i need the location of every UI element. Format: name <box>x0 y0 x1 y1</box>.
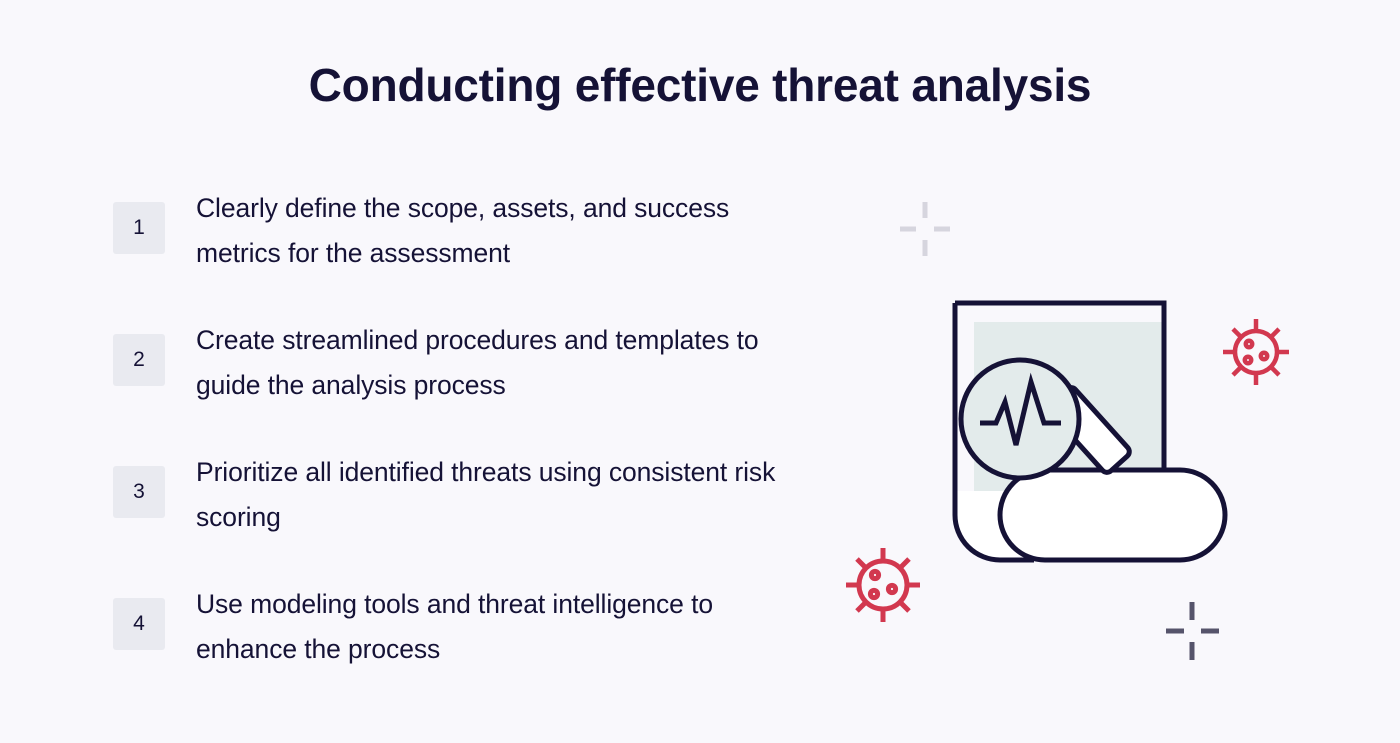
step-text: Create streamlined procedures and templa… <box>196 318 796 408</box>
crosshair-bottom-right <box>1166 602 1219 660</box>
step-text: Clearly define the scope, assets, and su… <box>196 186 796 276</box>
scroll-roll <box>1000 470 1225 560</box>
step-number-badge: 3 <box>113 466 165 518</box>
slide-canvas: Conducting effective threat analysis 1 C… <box>0 0 1400 743</box>
list-item: 4 Use modeling tools and threat intellig… <box>113 582 803 672</box>
step-number-badge: 2 <box>113 334 165 386</box>
virus-icon-top-right <box>1223 319 1289 385</box>
list-item: 3 Prioritize all identified threats usin… <box>113 450 803 540</box>
step-text: Use modeling tools and threat intelligen… <box>196 582 796 672</box>
list-item: 2 Create streamlined procedures and temp… <box>113 318 803 408</box>
threat-analysis-illustration <box>820 170 1320 690</box>
step-text: Prioritize all identified threats using … <box>196 450 796 540</box>
list-item: 1 Clearly define the scope, assets, and … <box>113 186 803 276</box>
page-title: Conducting effective threat analysis <box>0 58 1400 113</box>
step-number-badge: 1 <box>113 202 165 254</box>
step-number-badge: 4 <box>113 598 165 650</box>
crosshair-top-left <box>900 202 950 256</box>
virus-icon-bottom-left <box>846 548 920 622</box>
steps-list: 1 Clearly define the scope, assets, and … <box>113 186 803 672</box>
